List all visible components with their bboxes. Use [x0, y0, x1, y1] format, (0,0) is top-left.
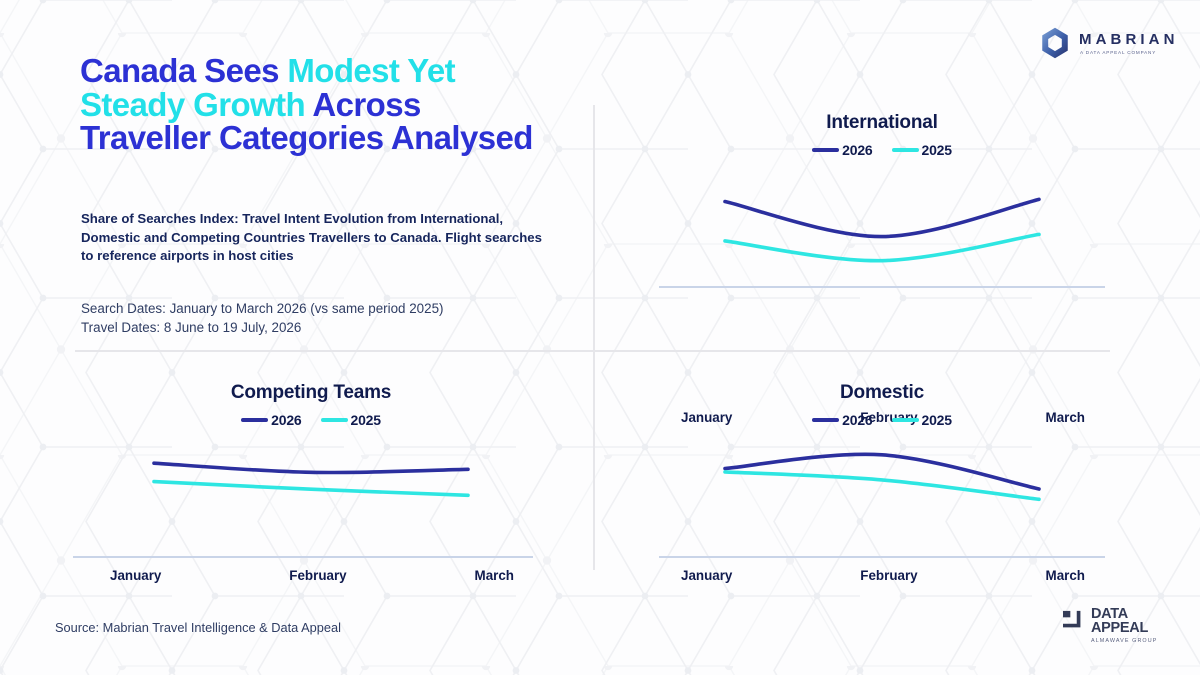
title-segment-0: Canada Sees	[80, 52, 287, 89]
x-tick-january: January	[110, 568, 161, 583]
x-axis-line-competing-teams	[73, 556, 533, 558]
mabrian-tagline: A DATA APPEAL COMPANY	[1080, 50, 1179, 55]
x-axis-line-domestic	[659, 556, 1105, 558]
page-title: Canada Sees Modest Yet Steady Growth Acr…	[80, 54, 550, 155]
vertical-divider	[593, 105, 595, 570]
legend-entry-2025: 2025	[321, 412, 381, 428]
legend-entry-2026: 2026	[812, 412, 872, 428]
legend-swatch-2026	[241, 418, 268, 422]
subtitle-description: Share of Searches Index: Travel Intent E…	[81, 210, 543, 266]
legend-swatch-2025	[892, 148, 919, 152]
chart-panel-domestic: Domestic 2026 2025 January February Marc…	[659, 382, 1105, 592]
line-chart-svg	[88, 450, 534, 510]
series-line-2026	[154, 463, 468, 472]
date-range-block: Search Dates: January to March 2026 (vs …	[81, 299, 561, 338]
x-tick-january: January	[681, 568, 732, 583]
plot-area-international	[659, 180, 1105, 280]
series-line-2025	[154, 482, 468, 496]
legend-swatch-2026	[812, 418, 839, 422]
data-appeal-tagline: ALMAWAVE GROUP	[1091, 638, 1157, 644]
chart-legend-domestic: 2026 2025	[659, 412, 1105, 428]
chart-title-competing-teams: Competing Teams	[88, 382, 534, 404]
line-chart-svg	[659, 180, 1105, 280]
x-axis-line-international	[659, 286, 1105, 288]
chart-legend-international: 2026 2025	[659, 142, 1105, 158]
series-line-2026	[725, 199, 1039, 236]
legend-label-2025: 2025	[922, 412, 952, 428]
chart-panel-international: International 2026 2025 January February…	[659, 112, 1105, 322]
legend-label-2025: 2025	[351, 412, 381, 428]
legend-label-2026: 2026	[842, 142, 872, 158]
mabrian-logo: MABRIAN A DATA APPEAL COMPANY	[1038, 26, 1179, 60]
legend-entry-2025: 2025	[892, 142, 952, 158]
chart-panel-competing-teams: Competing Teams 2026 2025 January Februa…	[88, 382, 534, 592]
chart-title-domestic: Domestic	[659, 382, 1105, 404]
square-bracket-mark-icon	[1063, 610, 1085, 632]
legend-label-2025: 2025	[922, 142, 952, 158]
x-tick-march: March	[1046, 568, 1085, 583]
slide-root: Canada Sees Modest Yet Steady Growth Acr…	[0, 0, 1200, 675]
hexagon-ring-icon	[1038, 26, 1072, 60]
plot-area-competing-teams	[88, 450, 534, 510]
legend-swatch-2026	[812, 148, 839, 152]
data-appeal-logo: DATA APPEAL ALMAWAVE GROUP	[1063, 607, 1157, 644]
data-appeal-line2: APPEAL	[1091, 621, 1157, 635]
chart-legend-competing-teams: 2026 2025	[88, 412, 534, 428]
data-appeal-line1: DATA	[1091, 607, 1157, 621]
travel-dates: Travel Dates: 8 June to 19 July, 2026	[81, 318, 561, 337]
line-chart-svg	[659, 444, 1105, 509]
x-tick-march: March	[475, 568, 514, 583]
x-tick-february: February	[860, 568, 917, 583]
legend-entry-2026: 2026	[241, 412, 301, 428]
search-dates: Search Dates: January to March 2026 (vs …	[81, 299, 561, 318]
series-line-2026	[725, 454, 1039, 489]
plot-area-domestic	[659, 444, 1105, 509]
source-note: Source: Mabrian Travel Intelligence & Da…	[55, 620, 341, 635]
x-axis-labels-competing-teams: January February March	[110, 568, 514, 583]
legend-label-2026: 2026	[842, 412, 872, 428]
legend-swatch-2025	[321, 418, 348, 422]
mabrian-wordmark: MABRIAN	[1079, 32, 1179, 47]
legend-entry-2026: 2026	[812, 142, 872, 158]
legend-label-2026: 2026	[271, 412, 301, 428]
x-axis-labels-domestic: January February March	[681, 568, 1085, 583]
chart-title-international: International	[659, 112, 1105, 134]
legend-swatch-2025	[892, 418, 919, 422]
legend-entry-2025: 2025	[892, 412, 952, 428]
x-tick-february: February	[289, 568, 346, 583]
